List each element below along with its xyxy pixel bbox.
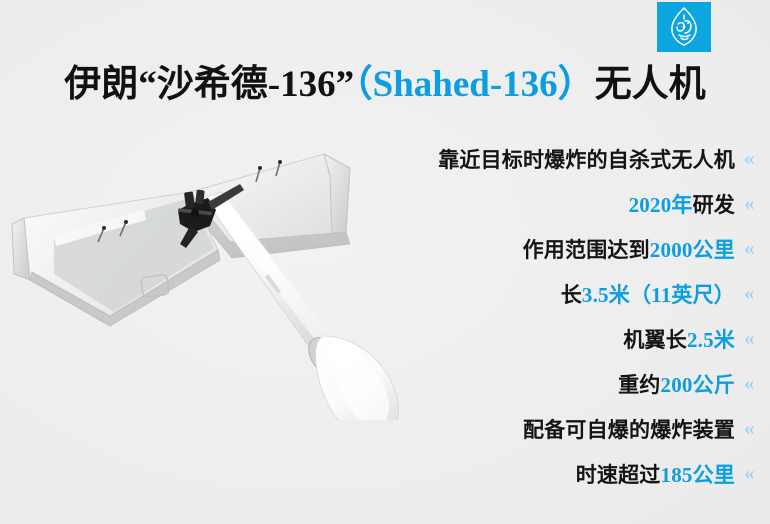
al-jazeera-logo	[657, 2, 711, 52]
spec-marker-icon: «	[744, 461, 762, 486]
spec-marker-icon: «	[744, 281, 762, 306]
spec-item-length: 长3.5米（11英尺） «	[342, 271, 762, 316]
drone-right-wing	[184, 154, 350, 258]
page-title: 伊朗“沙希德-136”（Shahed-136）无人机	[0, 60, 770, 110]
title-part-chinese-lead: 伊朗“沙希德-136”	[64, 64, 354, 105]
drone-fuselage	[204, 192, 346, 368]
spec-weight-text: 重约200公斤	[618, 369, 735, 399]
spec-warhead-text: 配备可自爆的爆炸装置	[523, 414, 735, 444]
spec-marker-icon: «	[744, 416, 762, 441]
spec-marker-icon: «	[744, 236, 762, 261]
infographic-canvas: 伊朗“沙希德-136”（Shahed-136）无人机	[0, 0, 770, 524]
spec-range-text: 作用范围达到2000公里	[523, 234, 735, 264]
spec-item-weight: 重约200公斤 «	[342, 361, 762, 406]
title-part-chinese-tail: 无人机	[595, 64, 706, 105]
spec-marker-icon: «	[744, 371, 762, 396]
drone-propeller-motor	[178, 184, 244, 248]
spec-item-year: 2020年研发 «	[342, 181, 762, 226]
spec-wingspan-text: 机翼长2.5米	[623, 324, 735, 354]
spec-length-text: 长3.5米（11英尺）	[561, 279, 735, 309]
spec-marker-icon: «	[744, 326, 762, 351]
spec-item-warhead: 配备可自爆的爆炸装置 «	[342, 406, 762, 451]
spec-item-role: 靠近目标时爆炸的自杀式无人机 «	[342, 136, 762, 181]
title-part-latin-name: （Shahed-136）	[354, 64, 595, 105]
spec-marker-icon: «	[744, 191, 762, 216]
spec-role-text: 靠近目标时爆炸的自杀式无人机	[438, 144, 735, 174]
al-jazeera-calligraphy-icon	[657, 2, 711, 52]
spec-item-wingspan: 机翼长2.5米 «	[342, 316, 762, 361]
drone-left-wing	[12, 192, 220, 326]
spec-item-speed: 时速超过185公里 «	[342, 451, 762, 496]
spec-marker-icon: «	[744, 146, 762, 171]
drone-antenna-tips	[102, 160, 282, 230]
drone-antennas	[98, 162, 280, 242]
spec-year-text: 2020年研发	[629, 189, 735, 219]
spec-item-range: 作用范围达到2000公里 «	[342, 226, 762, 271]
spec-speed-text: 时速超过185公里	[576, 459, 735, 489]
specs-list: 靠近目标时爆炸的自杀式无人机 « 2020年研发 « 作用范围达到2000公里 …	[342, 136, 762, 496]
